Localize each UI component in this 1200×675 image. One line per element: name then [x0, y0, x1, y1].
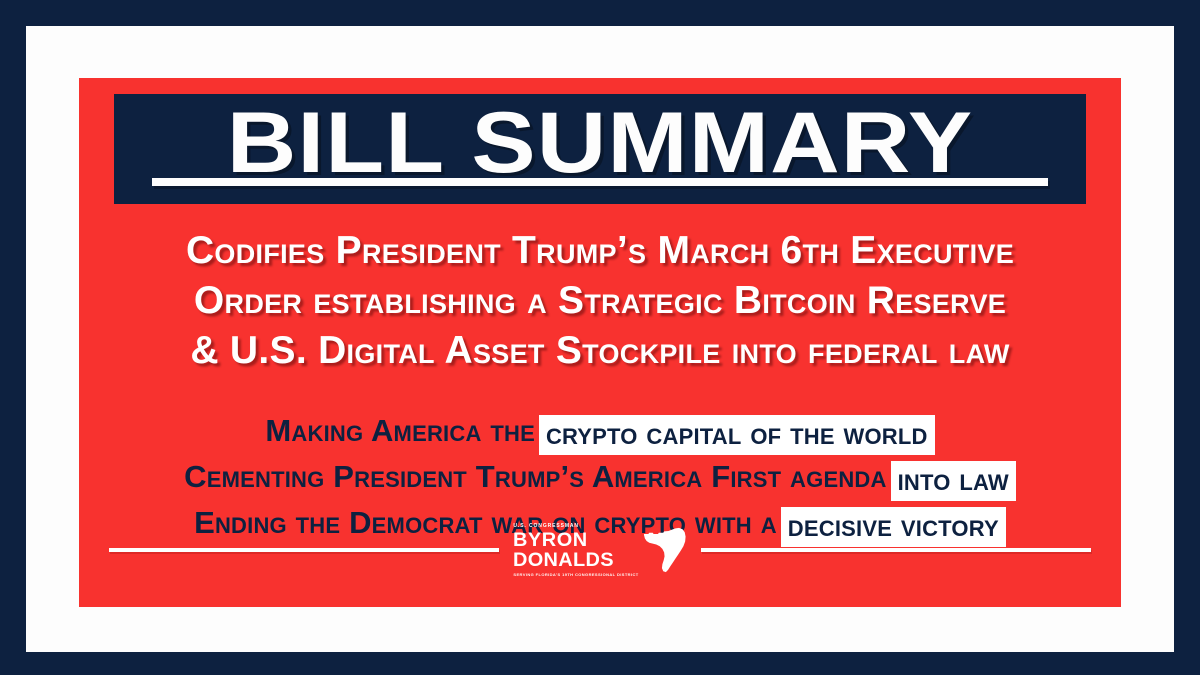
- headline-line-1: Codifies President Trump’s March 6th Exe…: [93, 226, 1107, 276]
- logo-wordmark: U.S. CONGRESSMAN BYRON DONALDS SERVING F…: [513, 524, 638, 577]
- headline-paragraph: Codifies President Trump’s March 6th Exe…: [93, 226, 1107, 376]
- page-title: BILL SUMMARY: [80, 94, 1119, 187]
- title-underline-rule: [152, 178, 1048, 186]
- headline-line-3: & U.S. Digital Asset Stockpile into fede…: [93, 326, 1107, 376]
- bullet-plain-text: Cementing President Trump’s America Firs…: [184, 459, 886, 494]
- headline-line-2: Order establishing a Strategic Bitcoin R…: [93, 276, 1107, 326]
- title-banner: BILL SUMMARY: [114, 94, 1086, 204]
- red-content-panel: BILL SUMMARY Codifies President Trump’s …: [79, 78, 1121, 607]
- bullet-plain-text: Making America the: [265, 413, 535, 448]
- logo-first-name: BYRON: [513, 531, 588, 550]
- florida-state-outline-icon: [643, 527, 687, 573]
- footer-rule-left: [109, 548, 499, 552]
- byron-donalds-logo: U.S. CONGRESSMAN BYRON DONALDS SERVING F…: [511, 524, 688, 577]
- footer-rule-right: [701, 548, 1091, 552]
- white-frame-border: BILL SUMMARY Codifies President Trump’s …: [26, 26, 1174, 652]
- bill-summary-graphic: BILL SUMMARY Codifies President Trump’s …: [0, 0, 1200, 675]
- logo-last-name: DONALDS: [513, 551, 614, 570]
- bullet-highlight-text: into law: [891, 461, 1016, 501]
- bullet-item: Cementing President Trump’s America Firs…: [93, 454, 1107, 500]
- bullet-highlight-text: crypto capital of the world: [539, 415, 935, 455]
- logo-eyebrow-text: U.S. CONGRESSMAN: [513, 523, 579, 529]
- footer-bar: U.S. CONGRESSMAN BYRON DONALDS SERVING F…: [79, 515, 1121, 585]
- bullet-item: Making America thecrypto capital of the …: [93, 408, 1107, 454]
- logo-tagline-text: SERVING FLORIDA’S 19TH CONGRESSIONAL DIS…: [513, 573, 638, 577]
